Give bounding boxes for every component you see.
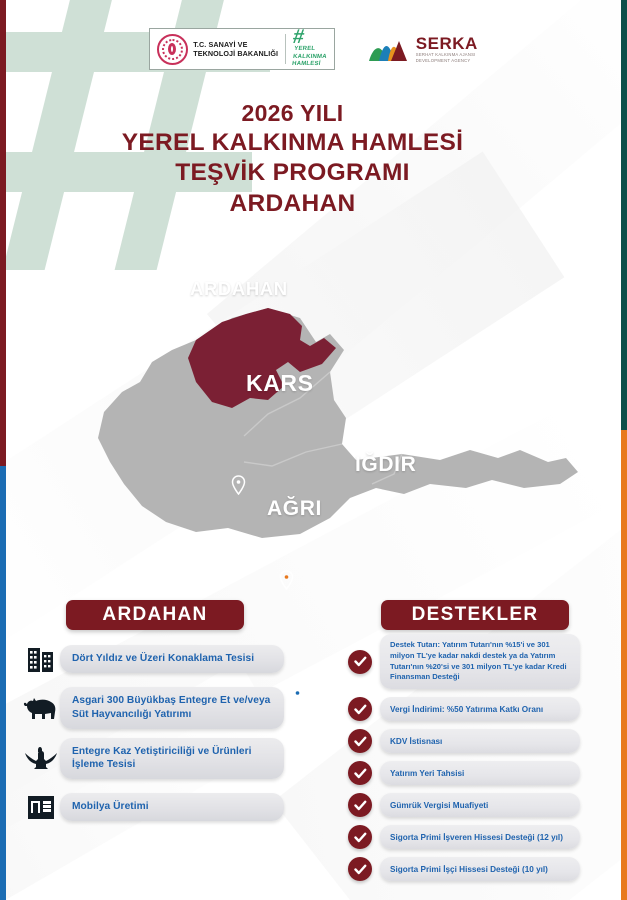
check-icon (348, 825, 372, 849)
list-item[interactable]: Mobilya Üretimi (22, 788, 284, 826)
title-line-incentive: TEŞVİK PROGRAMI (0, 158, 585, 189)
investment-card[interactable]: Dört Yıldız ve Üzeri Konaklama Tesisi (60, 645, 284, 673)
investment-label: Dört Yıldız ve Üzeri Konaklama Tesisi (72, 652, 254, 666)
investment-label: Asgari 300 Büyükbaş Entegre Et ve/veya S… (72, 694, 272, 722)
check-icon (348, 697, 372, 721)
investment-card[interactable]: Asgari 300 Büyükbaş Entegre Et ve/veya S… (60, 687, 284, 729)
poster-root: T.C. SANAYİ VETEKNOLOJİ BAKANLIĞI # YERE… (0, 0, 627, 900)
map-label-ardahan: ARDAHAN (190, 278, 288, 300)
cow-icon (22, 689, 60, 727)
list-item[interactable]: Sigorta Primi İşçi Hissesi Desteği (10 y… (348, 857, 580, 881)
support-card[interactable]: KDV İstisnası (380, 729, 580, 753)
agency-subtitle: SERHAT KALKINMA AJANSI DEVELOPMENT AGENC… (416, 52, 478, 63)
campaign-logo-text: YEREL KALKINMA HAMLESİ (292, 46, 329, 69)
support-label: Sigorta Primi İşveren Hissesi Desteği (1… (390, 832, 563, 843)
map-pin-kars (279, 570, 294, 590)
banner-supports: DESTEKLER (381, 600, 569, 630)
agency-logo: SERKA SERHAT KALKINMA AJANSI DEVELOPMENT… (367, 35, 478, 63)
investment-card[interactable]: Mobilya Üretimi (60, 793, 284, 821)
agency-name: SERKA (416, 35, 478, 52)
furniture-icon (22, 788, 60, 826)
support-label: Destek Tutarı: Yatırım Tutarı'nın %15'i … (390, 640, 570, 683)
list-item[interactable]: Sigorta Primi İşveren Hissesi Desteği (1… (348, 825, 580, 849)
support-card[interactable]: Sigorta Primi İşveren Hissesi Desteği (1… (380, 825, 580, 849)
map-label-igdir: IĞDIR (355, 453, 416, 477)
support-label: Gümrük Vergisi Muafiyeti (390, 800, 488, 811)
banner-supports-label: DESTEKLER (412, 604, 539, 626)
title-line-program: YEREL KALKINMA HAMLESİ (0, 128, 585, 159)
list-item[interactable]: Destek Tutarı: Yatırım Tutarı'nın %15'i … (348, 634, 580, 689)
map-label-agri: AĞRI (267, 497, 322, 521)
investment-card[interactable]: Entegre Kaz Yetiştiriciliği ve Ürünleri … (60, 738, 284, 780)
investment-list: Dört Yıldız ve Üzeri Konaklama Tesisi As… (22, 640, 284, 835)
banner-province: ARDAHAN (66, 600, 244, 630)
title-line-province: ARDAHAN (0, 189, 585, 220)
support-card[interactable]: Destek Tutarı: Yatırım Tutarı'nın %15'i … (380, 634, 580, 689)
ministry-seal-icon (157, 34, 188, 65)
support-label: Yatırım Yeri Tahsisi (390, 768, 464, 779)
check-icon (348, 793, 372, 817)
investment-label: Entegre Kaz Yetiştiriciliği ve Ürünleri … (72, 745, 272, 773)
map-base-shape (98, 308, 578, 538)
map-pin-agri (290, 686, 305, 706)
title-line-year: 2026 YILI (0, 99, 585, 128)
support-card[interactable]: Yatırım Yeri Tahsisi (380, 761, 580, 785)
campaign-logo: # YEREL KALKINMA HAMLESİ (293, 29, 327, 69)
support-card[interactable]: Vergi İndirimi: %50 Yatırıma Katkı Oranı (380, 697, 580, 721)
banner-province-label: ARDAHAN (102, 604, 207, 626)
map-label-kars: KARS (246, 370, 314, 397)
ministry-line1: T.C. SANAYİ VE (193, 40, 247, 49)
list-item[interactable]: Dört Yıldız ve Üzeri Konaklama Tesisi (22, 640, 284, 678)
support-label: Sigorta Primi İşçi Hissesi Desteği (10 y… (390, 864, 548, 875)
building-icon (22, 640, 60, 678)
support-list: Destek Tutarı: Yatırım Tutarı'nın %15'i … (348, 634, 580, 889)
check-icon (348, 857, 372, 881)
serka-mark-icon (367, 35, 413, 63)
ministry-logo: T.C. SANAYİ VETEKNOLOJİ BAKANLIĞI # YERE… (149, 28, 335, 70)
support-card[interactable]: Gümrük Vergisi Muafiyeti (380, 793, 580, 817)
ministry-line2: TEKNOLOJİ BAKANLIĞI (193, 49, 278, 58)
list-item[interactable]: Entegre Kaz Yetiştiriciliği ve Ürünleri … (22, 738, 284, 780)
list-item[interactable]: Gümrük Vergisi Muafiyeti (348, 793, 580, 817)
support-card[interactable]: Sigorta Primi İşçi Hissesi Desteği (10 y… (380, 857, 580, 881)
ministry-logo-text: T.C. SANAYİ VETEKNOLOJİ BAKANLIĞI (193, 40, 278, 58)
investment-label: Mobilya Üretimi (72, 800, 149, 814)
check-icon (348, 729, 372, 753)
logo-divider (285, 34, 286, 64)
check-icon (348, 761, 372, 785)
page-title: 2026 YILI YEREL KALKINMA HAMLESİ TEŞVİK … (0, 99, 585, 220)
check-icon (348, 650, 372, 674)
logo-bar: T.C. SANAYİ VETEKNOLOJİ BAKANLIĞI # YERE… (0, 28, 627, 70)
list-item[interactable]: KDV İstisnası (348, 729, 580, 753)
list-item[interactable]: Yatırım Yeri Tahsisi (348, 761, 580, 785)
support-label: Vergi İndirimi: %50 Yatırıma Katkı Oranı (390, 704, 543, 715)
map-pin-ardahan (231, 475, 246, 495)
agency-text: SERKA SERHAT KALKINMA AJANSI DEVELOPMENT… (416, 35, 478, 63)
list-item[interactable]: Asgari 300 Büyükbaş Entegre Et ve/veya S… (22, 687, 284, 729)
region-map (0, 222, 627, 582)
campaign-hash-icon: # (292, 29, 305, 45)
goose-icon (22, 739, 60, 777)
support-label: KDV İstisnası (390, 736, 442, 747)
list-item[interactable]: Vergi İndirimi: %50 Yatırıma Katkı Oranı (348, 697, 580, 721)
